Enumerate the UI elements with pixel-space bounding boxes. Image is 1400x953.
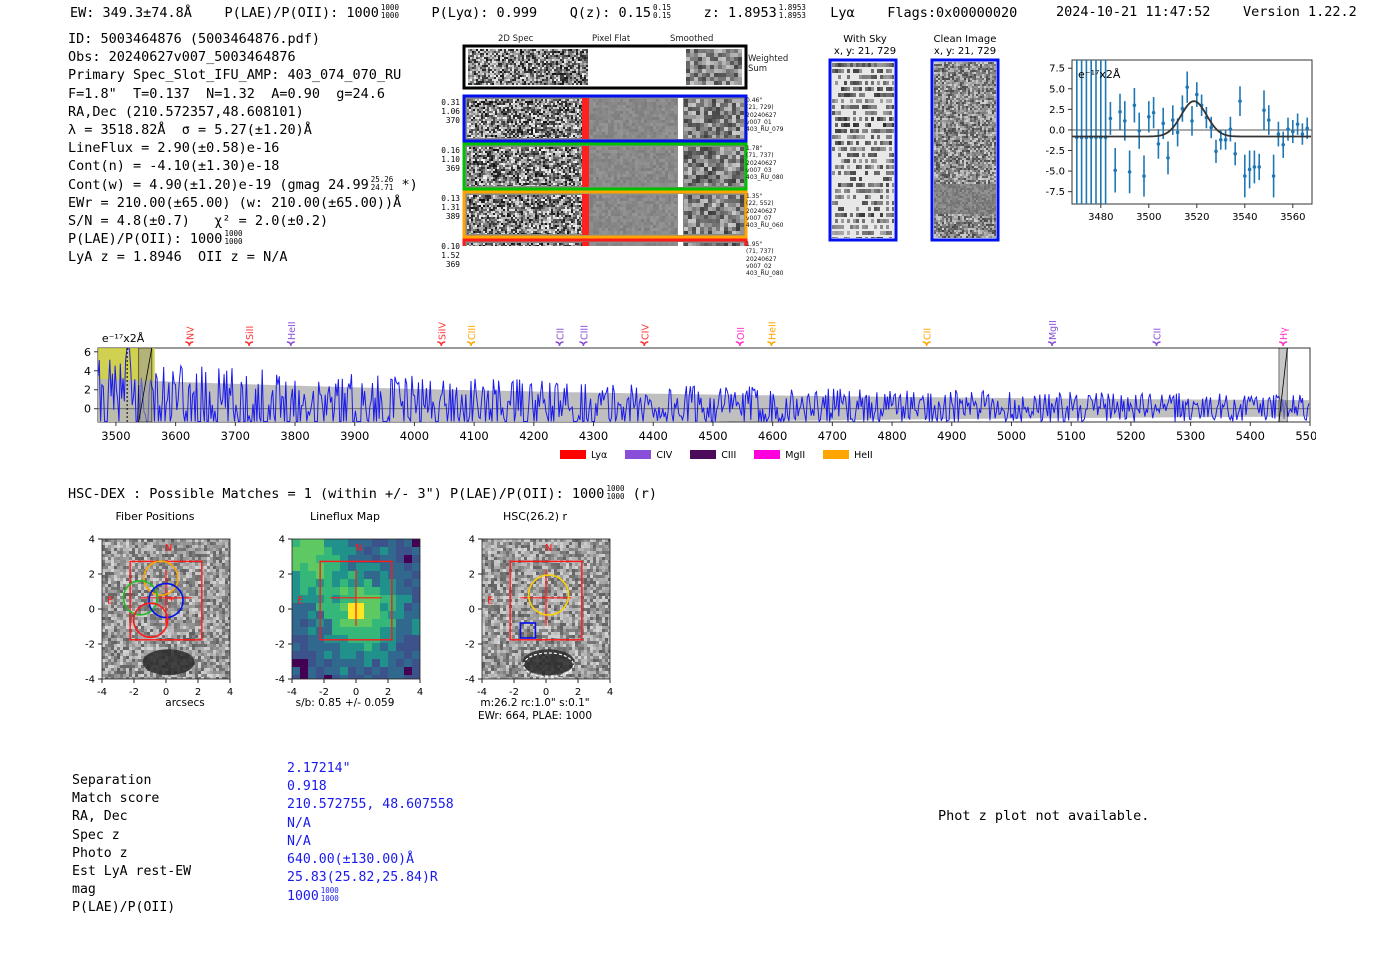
legend-label-mgii: MgII: [785, 450, 805, 461]
hscdex-plae-range: 10001000: [606, 485, 624, 501]
header-plae-range: 10001000: [381, 4, 399, 20]
line-marker-oii-8: OII: [736, 327, 747, 340]
line-marker-siii-1: SiII: [245, 326, 256, 340]
spec2d-right-meta-2: 1.35"(22, 552)20240627v007_07403_RU_060: [746, 193, 806, 229]
line-marker-mgii-11: MgII: [1048, 320, 1059, 340]
legend-swatch-mgii: [754, 450, 780, 459]
header-qz: Q(z): 0.15: [570, 5, 651, 21]
spec2d-right-meta-3: 1.95"(71, 737)20240627v007_02403_RU_080: [746, 241, 806, 277]
spec2d-panel-group: 2D Spec Pixel Flat Smoothed WeightedSum …: [430, 34, 760, 246]
line-marker-cii-5: CII: [556, 328, 567, 340]
info-id: ID: 5003464876 (5003464876.pdf): [68, 30, 418, 48]
header-version: Version 1.22.2: [1243, 4, 1357, 20]
match-row-key-separation: Separation: [72, 772, 151, 790]
match-row-value-ra-dec: 210.572755, 48.607558: [287, 796, 454, 814]
info-radec: RA,Dec (210.572357,48.608101): [68, 103, 418, 121]
spec2d-right-meta-0: 0.46"(21, 729)20240627v007_01403_RU_079: [746, 97, 806, 133]
line-marker-nv-0: NV: [185, 326, 196, 340]
info-redshifts: LyA z = 1.8946 OII z = N/A: [68, 248, 418, 266]
spec2d-left-values-2: 0.131.31389: [430, 194, 460, 221]
header-ew: EW: 349.3±74.8Å: [70, 5, 192, 21]
match-row-value-spec-z: N/A: [287, 815, 311, 833]
header-line-id: Lyα: [830, 5, 854, 21]
legend-item-mgii: MgII: [754, 450, 805, 461]
legend-swatch-civ: [625, 450, 651, 459]
header-plya: P(Lyα): 0.999: [432, 5, 538, 21]
source-info-block: ID: 5003464876 (5003464876.pdf) Obs: 202…: [68, 30, 418, 267]
header-z: z: 1.8953: [704, 5, 777, 21]
match-row-key-mag: mag: [72, 881, 96, 899]
spec2d-left-values-0: 0.311.06370: [430, 98, 460, 125]
image-panel-group: Fiber Positions Lineflux Map HSC(26.2) r…: [60, 510, 680, 725]
header-datetime: 2024-10-21 11:47:52: [1056, 4, 1210, 20]
info-plae-range: 10001000: [224, 230, 242, 246]
image-panels-svg: NE+-4-2024420-2-4NE-4-2024420-2-4NE-4-20…: [60, 525, 680, 725]
match-row-value-est-lya-rest-ew: 640.00(±130.00)Å: [287, 851, 414, 869]
full-spectrum-plot: NVSiIIHeIISiIVCIIICIICIIICIVOIIHeIICIIMg…: [70, 300, 1316, 465]
line-marker-siiv-3: SiIV: [437, 322, 448, 340]
info-cont-n: Cont(n) = -4.10(±1.30)e-18: [68, 157, 418, 175]
gaussian-fit-svg: -7.5-5.0-2.50.02.55.07.53480350035203540…: [1028, 52, 1318, 242]
photz-note: Phot z plot not available.: [938, 808, 1149, 824]
legend-label-lyα: Lyα: [591, 450, 607, 461]
legend-swatch-ciii: [690, 450, 716, 459]
info-lambda-sigma: λ = 3518.82Å σ = 5.27(±1.20)Å: [68, 121, 418, 139]
spec2d-images: [430, 34, 760, 246]
info-seeing: F=1.8" T=0.137 N=1.32 A=0.90 g=24.6: [68, 85, 418, 103]
header-summary-line: EW: 349.3±74.8Å P(LAE)/P(OII): 100010001…: [70, 4, 1017, 21]
info-gmag-range: 25.2624.71: [371, 176, 394, 192]
header-timestamp-version: 2024-10-21 11:47:52 Version 1.22.2: [1056, 4, 1357, 20]
match-row-value-separation: 2.17214": [287, 760, 351, 778]
info-obs: Obs: 20240627v007_5003464876: [68, 48, 418, 66]
line-marker-ciii-4: CIII: [467, 325, 478, 340]
panel-title-hsc-r: HSC(26.2) r: [440, 510, 630, 523]
match-table: Separation2.17214"Match score0.918RA, De…: [72, 772, 592, 922]
spec2d-left-values-1: 0.161.10369: [430, 146, 460, 173]
legend-item-heii: HeII: [823, 450, 873, 461]
line-marker-heii-2: HeII: [287, 321, 298, 340]
gaussian-fit-plot: -7.5-5.0-2.50.02.55.07.53480350035203540…: [1028, 52, 1318, 242]
caption-fiber-positions: arcsecs: [105, 697, 265, 709]
panel-title-fiber-positions: Fiber Positions: [60, 510, 250, 523]
header-plae: P(LAE)/P(OII): 1000: [224, 5, 378, 21]
legend-item-civ: CIV: [625, 450, 672, 461]
cutout-group: With Skyx, y: 21, 729 Clean Imagex, y: 2…: [820, 34, 1020, 246]
caption-lineflux-map: s/b: 0.85 +/- 0.059: [255, 697, 435, 709]
match-row-value-mag: 25.83(25.82,25.84)R: [287, 869, 438, 887]
match-row-key-ra-dec: RA, Dec: [72, 808, 128, 826]
match-row-value-match-score: 0.918: [287, 778, 327, 796]
info-cont-w: Cont(w) = 4.90(±1.20)e-19 (gmag 24.9925.…: [68, 176, 418, 194]
cutout-images: [820, 34, 1020, 246]
legend-item-lyα: Lyα: [560, 450, 607, 461]
match-row-key-match-score: Match score: [72, 790, 159, 808]
spectrum-legend: LyαCIVCIIIMgIIHeII: [560, 450, 891, 461]
match-row-key-spec-z: Spec z: [72, 827, 120, 845]
line-marker-heii-9: HeII: [767, 321, 778, 340]
legend-label-heii: HeII: [854, 450, 873, 461]
legend-label-civ: CIV: [656, 450, 672, 461]
line-marker-hγ-13: Hγ: [1279, 327, 1290, 340]
line-marker-ciii-6: CIII: [579, 325, 590, 340]
line-marker-civ-7: CIV: [640, 324, 651, 340]
spec2d-right-meta-1: 1.78"(71, 737)20240627v007_03403_RU_080: [746, 145, 806, 181]
info-ewr: EWr = 210.00(±65.00) (w: 210.00(±65.00))…: [68, 194, 418, 212]
header-z-range: 1.89531.8953: [779, 4, 806, 20]
panel-title-lineflux-map: Lineflux Map: [250, 510, 440, 523]
full-spectrum-svg: NVSiIIHeIISiIVCIIICIICIIICIVOIIHeIICIIMg…: [70, 300, 1316, 465]
info-primary-spec: Primary Spec_Slot_IFU_AMP: 403_074_070_R…: [68, 66, 418, 84]
legend-swatch-heii: [823, 450, 849, 459]
match-row-key-photo-z: Photo z: [72, 845, 128, 863]
legend-label-ciii: CIII: [721, 450, 736, 461]
legend-swatch-lyα: [560, 450, 586, 459]
info-lineflux: LineFlux = 2.90(±0.58)e-16: [68, 139, 418, 157]
legend-item-ciii: CIII: [690, 450, 736, 461]
caption-hsc-r: m:26.2 rc:1.0" s:0.1"EWr: 664, PLAE: 100…: [440, 697, 630, 722]
match-row-key-est-lya-rest-ew: Est LyA rest-EW: [72, 863, 191, 881]
hscdex-headline: HSC-DEX : Possible Matches = 1 (within +…: [68, 485, 657, 502]
header-qz-range: 0.150.15: [653, 4, 671, 20]
header-flags: Flags:0x00000020: [887, 5, 1017, 21]
info-plae: P(LAE)/P(OII): 100010001000: [68, 230, 418, 248]
match-row-value-p-lae-p-oii-: 100010001000: [287, 887, 339, 906]
line-marker-cii-12: CII: [1153, 328, 1164, 340]
info-sn-chi2: S/N = 4.8(±0.7) χ² = 2.0(±0.2): [68, 212, 418, 230]
line-marker-cii-10: CII: [923, 328, 934, 340]
match-row-key-p-lae-p-oii-: P(LAE)/P(OII): [72, 899, 175, 917]
spec2d-left-values-3: 0.101.52369: [430, 242, 460, 269]
match-row-value-photo-z: N/A: [287, 833, 311, 851]
